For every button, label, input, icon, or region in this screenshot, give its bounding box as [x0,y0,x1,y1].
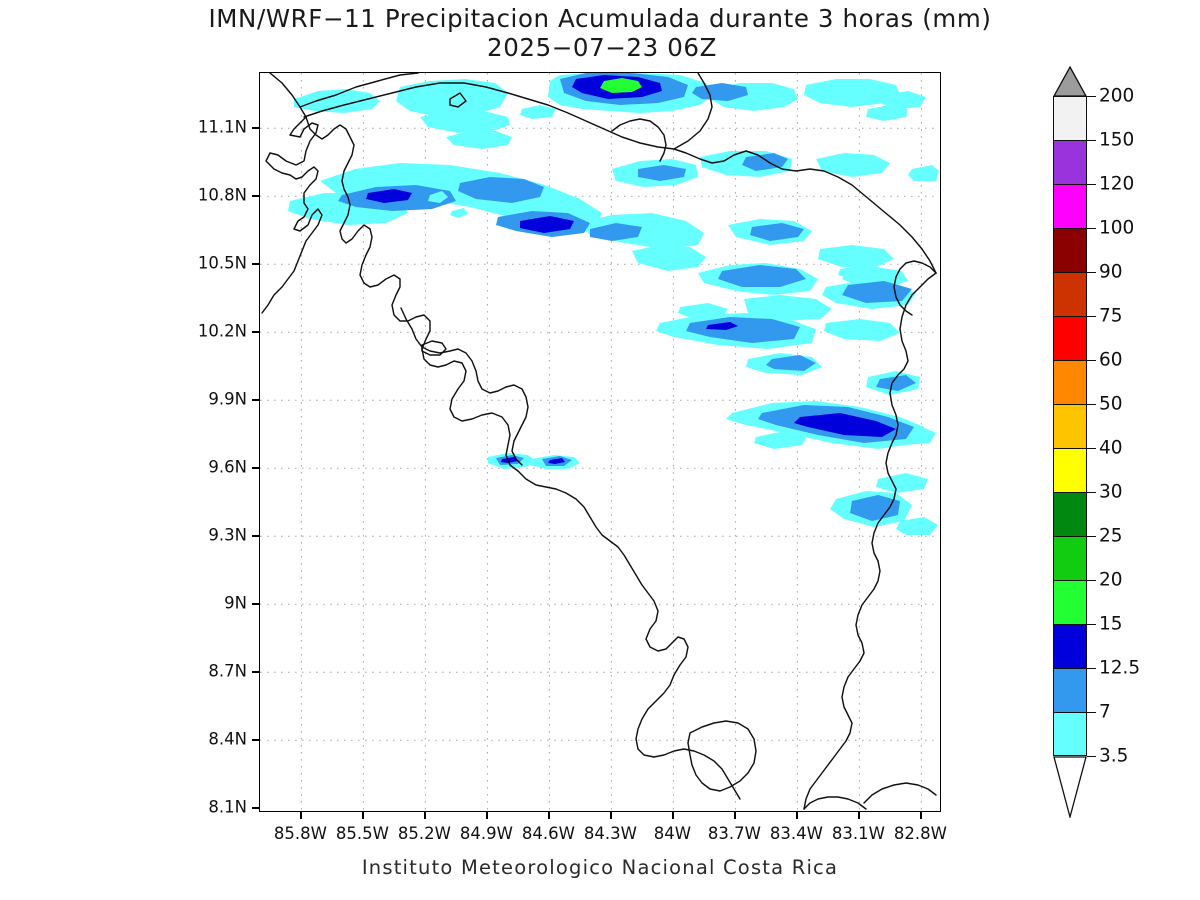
precip-region-north-border [294,73,908,133]
colorbar-band-120-150 [1053,140,1087,184]
plot-frame [259,72,941,812]
y-axis-tick-label: 10.5N [198,254,258,273]
precipitation-field [288,73,939,535]
colorbar-tick-label: 100 [1099,218,1134,239]
colorbar-band-3.5-7 [1053,712,1087,756]
precip-region-northwest [880,91,939,181]
colorbar-tick-label: 20 [1099,570,1123,591]
colorbar-over-arrow [1053,66,1087,97]
colorbar-tick-label: 40 [1099,438,1123,459]
colorbar-tick-label: 60 [1099,350,1123,371]
precip-region-caribbean-south [830,473,938,535]
y-axis-tick-label: 10.8N [198,186,258,205]
colorbar-tick-label: 7 [1099,702,1111,723]
y-axis-tick-label: 9.9N [208,390,258,409]
precip-region-caribbean-mid [726,401,936,449]
x-axis-tick-label: 82.8W [894,824,947,843]
precip-region-caribbean-north [656,263,920,395]
colorbar-tick-label: 25 [1099,526,1123,547]
precipitation-map-page: IMN/WRF−11 Precipitacion Acumulada duran… [0,0,1200,900]
x-axis-tick-label: 83.1W [832,824,885,843]
y-axis-tick-label: 8.1N [208,798,258,817]
precip-region-pacific-coast [488,453,580,469]
colorbar-legend: 200 150 120 100 90 75 60 50 40 30 25 20 … [1053,96,1087,824]
y-axis-tick-label: 9N [224,594,258,613]
colorbar-band-30-40 [1053,448,1087,492]
x-axis-tick-label: 85.2W [398,824,451,843]
colorbar-band-60-75 [1053,316,1087,360]
y-axis-tick-label: 8.7N [208,662,258,681]
colorbar-band-150-200 [1053,96,1087,140]
colorbar-band-20-25 [1053,536,1087,580]
colorbar-tick-label: 30 [1099,482,1123,503]
x-axis-tick-label: 85.5W [336,824,389,843]
colorbar-tick-label: 150 [1099,130,1134,151]
footer-attribution: Instituto Meteorologico Nacional Costa R… [0,856,1200,879]
y-axis-tick-label: 11.1N [198,118,258,137]
x-axis-tick-label: 85.8W [274,824,327,843]
colorbar-band-50-60 [1053,360,1087,404]
colorbar-tick-label: 200 [1099,86,1134,107]
colorbar-tick-label: 120 [1099,174,1134,195]
colorbar-under-arrow [1053,756,1087,818]
colorbar-band-100-120 [1053,184,1087,228]
x-axis-tick-label: 83.7W [708,824,761,843]
x-axis-tick-label: 84W [654,824,691,843]
y-axis-tick-label: 8.4N [208,730,258,749]
y-axis-tick-label: 10.2N [198,322,258,341]
x-axis-tick-label: 84.3W [584,824,637,843]
y-axis-tick-label: 9.6N [208,458,258,477]
colorbar-band-15-20 [1053,580,1087,624]
chart-subtitle: 2025−07−23 06Z [0,33,1200,62]
colorbar-tick-label: 75 [1099,306,1123,327]
colorbar-tick-label: 90 [1099,262,1123,283]
y-axis-tick-label: 9.3N [208,526,258,545]
colorbar-tick-label: 3.5 [1099,746,1128,767]
x-axis-tick-label: 83.4W [770,824,823,843]
colorbar-band-40-50 [1053,404,1087,448]
colorbar-band-90-100 [1053,228,1087,272]
colorbar-tick-label: 12.5 [1099,658,1140,679]
colorbar-band-7-12.5 [1053,668,1087,712]
colorbar-band-75-90 [1053,272,1087,316]
chart-title-block: IMN/WRF−11 Precipitacion Acumulada duran… [0,4,1200,62]
colorbar-band-25-30 [1053,492,1087,536]
x-axis-tick-label: 84.9W [460,824,513,843]
colorbar-band-12.5-15 [1053,624,1087,668]
colorbar-tick-label: 50 [1099,394,1123,415]
map-plot-area: 11.1N 10.8N 10.5N 10.2N 9.9N 9.6N 9.3N 9… [259,72,941,812]
precip-region-san-juan [288,131,908,287]
page-title: IMN/WRF−11 Precipitacion Acumulada duran… [0,4,1200,33]
x-axis-tick-label: 84.6W [522,824,575,843]
map-canvas [260,73,939,810]
colorbar-tick-label: 15 [1099,614,1123,635]
